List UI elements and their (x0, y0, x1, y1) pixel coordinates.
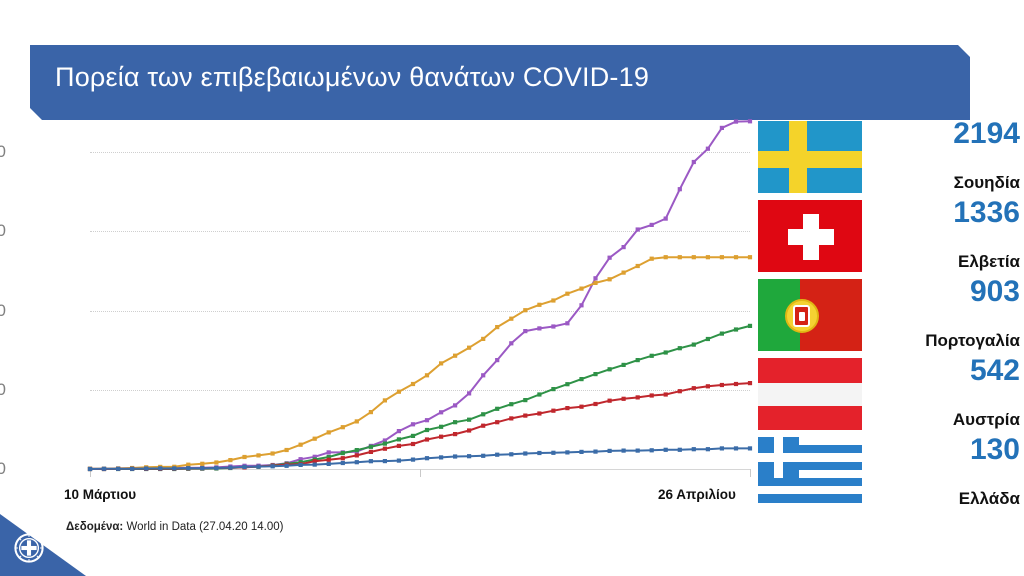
series-marker (355, 419, 359, 423)
series-marker (383, 442, 387, 446)
series-marker (327, 450, 331, 454)
series-marker (734, 120, 738, 124)
series-marker (397, 429, 401, 433)
series-marker (158, 466, 162, 470)
series-line-Ελβετία (90, 257, 750, 469)
series-marker (495, 453, 499, 457)
series-marker (411, 434, 415, 438)
series-marker (565, 450, 569, 454)
series-marker (636, 358, 640, 362)
series-marker (481, 373, 485, 377)
series-marker (509, 341, 513, 345)
series-marker (734, 255, 738, 259)
series-marker (313, 463, 317, 467)
legend-row-Σουηδία[interactable]: 2194Σουηδία (757, 120, 1024, 194)
series-marker (172, 466, 176, 470)
series-marker (467, 454, 471, 458)
x-axis-start-label: 10 Μάρτιου (64, 487, 136, 502)
series-marker (341, 461, 345, 465)
series-marker (734, 446, 738, 450)
series-marker (439, 410, 443, 414)
series-marker (341, 456, 345, 460)
series-marker (720, 446, 724, 450)
portugal-flag (757, 278, 863, 352)
series-marker (397, 437, 401, 441)
series-marker (523, 414, 527, 418)
series-marker (678, 389, 682, 393)
series-marker (706, 255, 710, 259)
series-marker (748, 324, 752, 328)
series-marker (748, 381, 752, 385)
series-marker (242, 465, 246, 469)
series-marker (397, 444, 401, 448)
series-marker (664, 217, 668, 221)
series-marker (650, 393, 654, 397)
series-marker (636, 395, 640, 399)
series-marker (622, 397, 626, 401)
series-marker (88, 467, 92, 471)
series-marker (467, 391, 471, 395)
series-marker (453, 454, 457, 458)
series-marker (608, 256, 612, 260)
series-marker (678, 346, 682, 350)
series-marker (579, 377, 583, 381)
series-marker (383, 447, 387, 451)
series-marker (593, 281, 597, 285)
series-marker (228, 458, 232, 462)
series-marker (593, 450, 597, 454)
series-marker (748, 119, 752, 123)
series-marker (285, 464, 289, 468)
legend-country-name: Πορτογαλία (925, 332, 1020, 349)
series-marker (439, 435, 443, 439)
series-marker (509, 416, 513, 420)
legend-value: 2194 (953, 119, 1020, 149)
series-marker (706, 147, 710, 151)
series-marker (481, 424, 485, 428)
legend-row-Ελλάδα[interactable]: 130Ελλάδα (757, 436, 1024, 510)
series-marker (650, 257, 654, 261)
series-marker (425, 456, 429, 460)
legend-row-Πορτογαλία[interactable]: 903Πορτογαλία (757, 278, 1024, 352)
series-marker (411, 442, 415, 446)
series-marker (256, 453, 260, 457)
series-marker (622, 449, 626, 453)
series-marker (608, 399, 612, 403)
series-marker (341, 425, 345, 429)
series-marker (692, 447, 696, 451)
series-marker (383, 459, 387, 463)
series-marker (495, 407, 499, 411)
x-axis-end-label: 26 Απριλίου (658, 487, 736, 502)
series-marker (130, 467, 134, 471)
series-marker (579, 287, 583, 291)
series-marker (144, 466, 148, 470)
series-marker (748, 446, 752, 450)
legend-text: 542Αυστρία (869, 357, 1024, 431)
series-marker (692, 160, 696, 164)
series-marker (579, 303, 583, 307)
series-marker (369, 445, 373, 449)
series-marker (565, 292, 569, 296)
legend-value: 542 (970, 356, 1020, 386)
sweden-flag (757, 120, 863, 194)
series-marker (706, 447, 710, 451)
slide-canvas: Πορεία των επιβεβαιωμένων θανάτων COVID-… (0, 0, 1024, 576)
series-marker (608, 367, 612, 371)
series-marker (228, 466, 232, 470)
legend-row-Ελβετία[interactable]: 1336Ελβετία (757, 199, 1024, 273)
series-marker (537, 411, 541, 415)
series-marker (692, 255, 696, 259)
legend-value: 1336 (953, 198, 1020, 228)
series-marker (622, 245, 626, 249)
series-marker (355, 448, 359, 452)
series-marker (678, 255, 682, 259)
source-value: World in Data (27.04.20 14.00) (123, 521, 283, 533)
series-marker (242, 455, 246, 459)
series-marker (285, 448, 289, 452)
series-marker (523, 451, 527, 455)
series-marker (102, 467, 106, 471)
series-marker (706, 384, 710, 388)
legend-text: 130Ελλάδα (869, 436, 1024, 510)
series-marker (720, 383, 724, 387)
series-marker (214, 460, 218, 464)
series-marker (678, 187, 682, 191)
legend-country-name: Αυστρία (953, 411, 1020, 428)
legend-value: 130 (970, 435, 1020, 465)
series-marker (200, 462, 204, 466)
series-marker (720, 126, 724, 130)
series-marker (453, 432, 457, 436)
series-marker (608, 449, 612, 453)
series-marker (411, 422, 415, 426)
series-marker (523, 398, 527, 402)
series-marker (481, 454, 485, 458)
series-marker (186, 466, 190, 470)
series-marker (439, 425, 443, 429)
series-marker (734, 382, 738, 386)
series-marker (509, 452, 513, 456)
series-marker (551, 409, 555, 413)
series-marker (271, 451, 275, 455)
series-marker (439, 455, 443, 459)
legend-country-name: Ελλάδα (959, 490, 1020, 507)
series-marker (453, 403, 457, 407)
series-marker (439, 361, 443, 365)
series-marker (495, 420, 499, 424)
legend-panel: 2194Σουηδία1336Ελβετία903Πορτογαλία542Αυ… (757, 120, 1024, 516)
series-marker (467, 346, 471, 350)
series-marker (383, 398, 387, 402)
series-marker (425, 373, 429, 377)
series-marker (327, 430, 331, 434)
series-marker (692, 386, 696, 390)
series-marker (622, 271, 626, 275)
series-marker (565, 321, 569, 325)
series-marker (720, 332, 724, 336)
series-marker (256, 465, 260, 469)
series-marker (397, 459, 401, 463)
legend-country-name: Σουηδία (954, 174, 1020, 191)
series-marker (495, 325, 499, 329)
series-marker (481, 412, 485, 416)
series-marker (650, 448, 654, 452)
austria-flag (757, 357, 863, 431)
series-marker (720, 255, 724, 259)
series-marker (327, 458, 331, 462)
series-marker (551, 298, 555, 302)
legend-text: 1336Ελβετία (869, 199, 1024, 273)
series-marker (622, 363, 626, 367)
series-marker (748, 255, 752, 259)
series-marker (537, 326, 541, 330)
series-marker (116, 467, 120, 471)
series-marker (678, 448, 682, 452)
source-note: Δεδομένα: World in Data (27.04.20 14.00) (66, 521, 284, 533)
series-marker (593, 276, 597, 280)
series-marker (425, 418, 429, 422)
series-marker (327, 462, 331, 466)
line-chart: 2,0001,5001,0005000 (0, 120, 770, 490)
series-marker (397, 390, 401, 394)
series-marker (200, 466, 204, 470)
series-marker (664, 255, 668, 259)
series-marker (734, 327, 738, 331)
series-marker (650, 354, 654, 358)
greek-government-emblem-icon (12, 531, 46, 565)
series-marker (299, 443, 303, 447)
series-marker (664, 350, 668, 354)
series-marker (579, 450, 583, 454)
series-marker (523, 308, 527, 312)
series-marker (551, 451, 555, 455)
greece-flag (757, 436, 863, 510)
series-marker (453, 420, 457, 424)
series-marker (425, 437, 429, 441)
series-marker (537, 303, 541, 307)
series-marker (551, 387, 555, 391)
page-title: Πορεία των επιβεβαιωμένων θανάτων COVID-… (55, 62, 649, 93)
series-marker (593, 402, 597, 406)
series-marker (369, 410, 373, 414)
series-marker (467, 428, 471, 432)
series-marker (467, 418, 471, 422)
series-marker (664, 392, 668, 396)
series-marker (495, 358, 499, 362)
legend-text: 2194Σουηδία (869, 120, 1024, 194)
series-marker (369, 459, 373, 463)
series-marker (355, 453, 359, 457)
series-marker (369, 450, 373, 454)
series-marker (551, 324, 555, 328)
series-marker (411, 382, 415, 386)
series-marker (509, 317, 513, 321)
series-line-Σουηδία (90, 121, 750, 469)
switzerland-flag (757, 199, 863, 273)
legend-country-name: Ελβετία (958, 253, 1020, 270)
corner-decoration (0, 514, 86, 576)
legend-row-Αυστρία[interactable]: 542Αυστρία (757, 357, 1024, 431)
legend-value: 903 (970, 277, 1020, 307)
series-marker (453, 354, 457, 358)
series-marker (636, 227, 640, 231)
series-marker (650, 223, 654, 227)
series-marker (565, 406, 569, 410)
series-marker (313, 437, 317, 441)
series-marker (509, 402, 513, 406)
series-marker (664, 448, 668, 452)
series-marker (425, 428, 429, 432)
series-marker (481, 337, 485, 341)
series-marker (636, 449, 640, 453)
series-marker (299, 463, 303, 467)
series-marker (593, 372, 597, 376)
series-marker (523, 329, 527, 333)
series-marker (692, 343, 696, 347)
series-marker (537, 392, 541, 396)
series-marker (706, 337, 710, 341)
series-marker (214, 466, 218, 470)
series-marker (537, 451, 541, 455)
legend-text: 903Πορτογαλία (869, 278, 1024, 352)
series-marker (341, 451, 345, 455)
series-marker (355, 460, 359, 464)
series-marker (271, 464, 275, 468)
series-marker (579, 405, 583, 409)
series-marker (411, 458, 415, 462)
series-marker (565, 382, 569, 386)
series-marker (636, 264, 640, 268)
chart-series-layer (0, 120, 770, 490)
series-marker (608, 277, 612, 281)
